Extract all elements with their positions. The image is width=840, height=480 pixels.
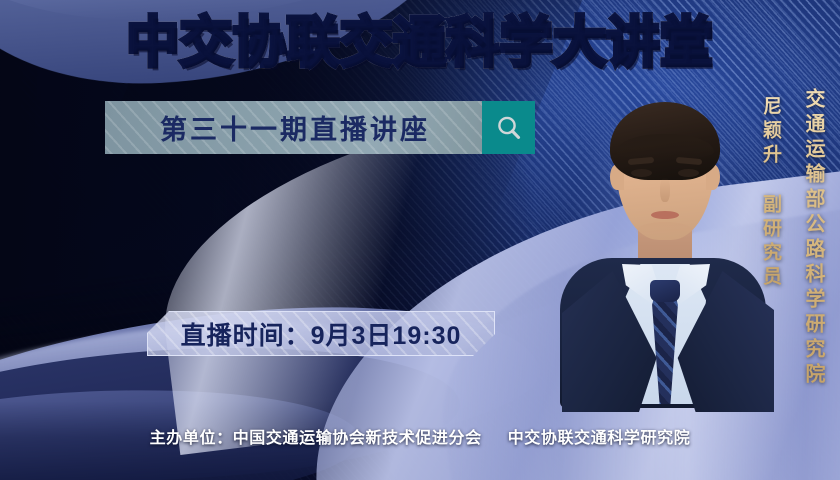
poster-title: 中交协联交通科学大讲堂 [13,16,828,70]
footer-organizer-prefix: 主办单位： [150,430,233,447]
speaker-portrait [566,72,758,402]
live-stream-poster: 中交协联交通科学大讲堂 第三十一期直播讲座 公路桥隧基础设施建设养护 安全监管新… [0,0,840,480]
speaker-organization: 交通运输部公路科学研究院 [799,88,828,388]
footer-organizer-2: 中交协联交通科学研究院 [508,430,691,447]
episode-bar: 第三十一期直播讲座 [105,101,535,154]
portrait-chin-shadow [636,222,694,240]
episode-bar-body: 第三十一期直播讲座 [105,101,482,154]
speaker-name-title: 尼颖升 副研究员 [757,96,784,290]
portrait-mouth [651,211,679,219]
portrait-necktie-knot [650,280,680,302]
episode-label: 第三十一期直播讲座 [157,108,430,147]
lecture-headline-line-2: 安全监管新技术研发及应用 [35,234,546,288]
lecture-headline-line-1: 公路桥隧基础设施建设养护 [35,180,546,234]
search-icon [482,101,535,154]
footer-organizer-1: 中国交通运输协会新技术促进分会 [233,430,482,447]
portrait-hair-fringe [616,134,714,160]
broadcast-time-label: 直播时间：9月3日19:30 [181,316,462,352]
portrait-eye-left [631,169,652,177]
portrait-nose [660,178,670,202]
broadcast-time-badge: 直播时间：9月3日19:30 [147,311,495,356]
poster-title-text: 中交协联交通科学大讲堂 [127,13,714,73]
portrait-eye-right [678,169,699,177]
footer-organizers: 主办单位：中国交通运输协会新技术促进分会中交协联交通科学研究院 [0,424,840,448]
lecture-headline: 公路桥隧基础设施建设养护 安全监管新技术研发及应用 [32,180,548,288]
